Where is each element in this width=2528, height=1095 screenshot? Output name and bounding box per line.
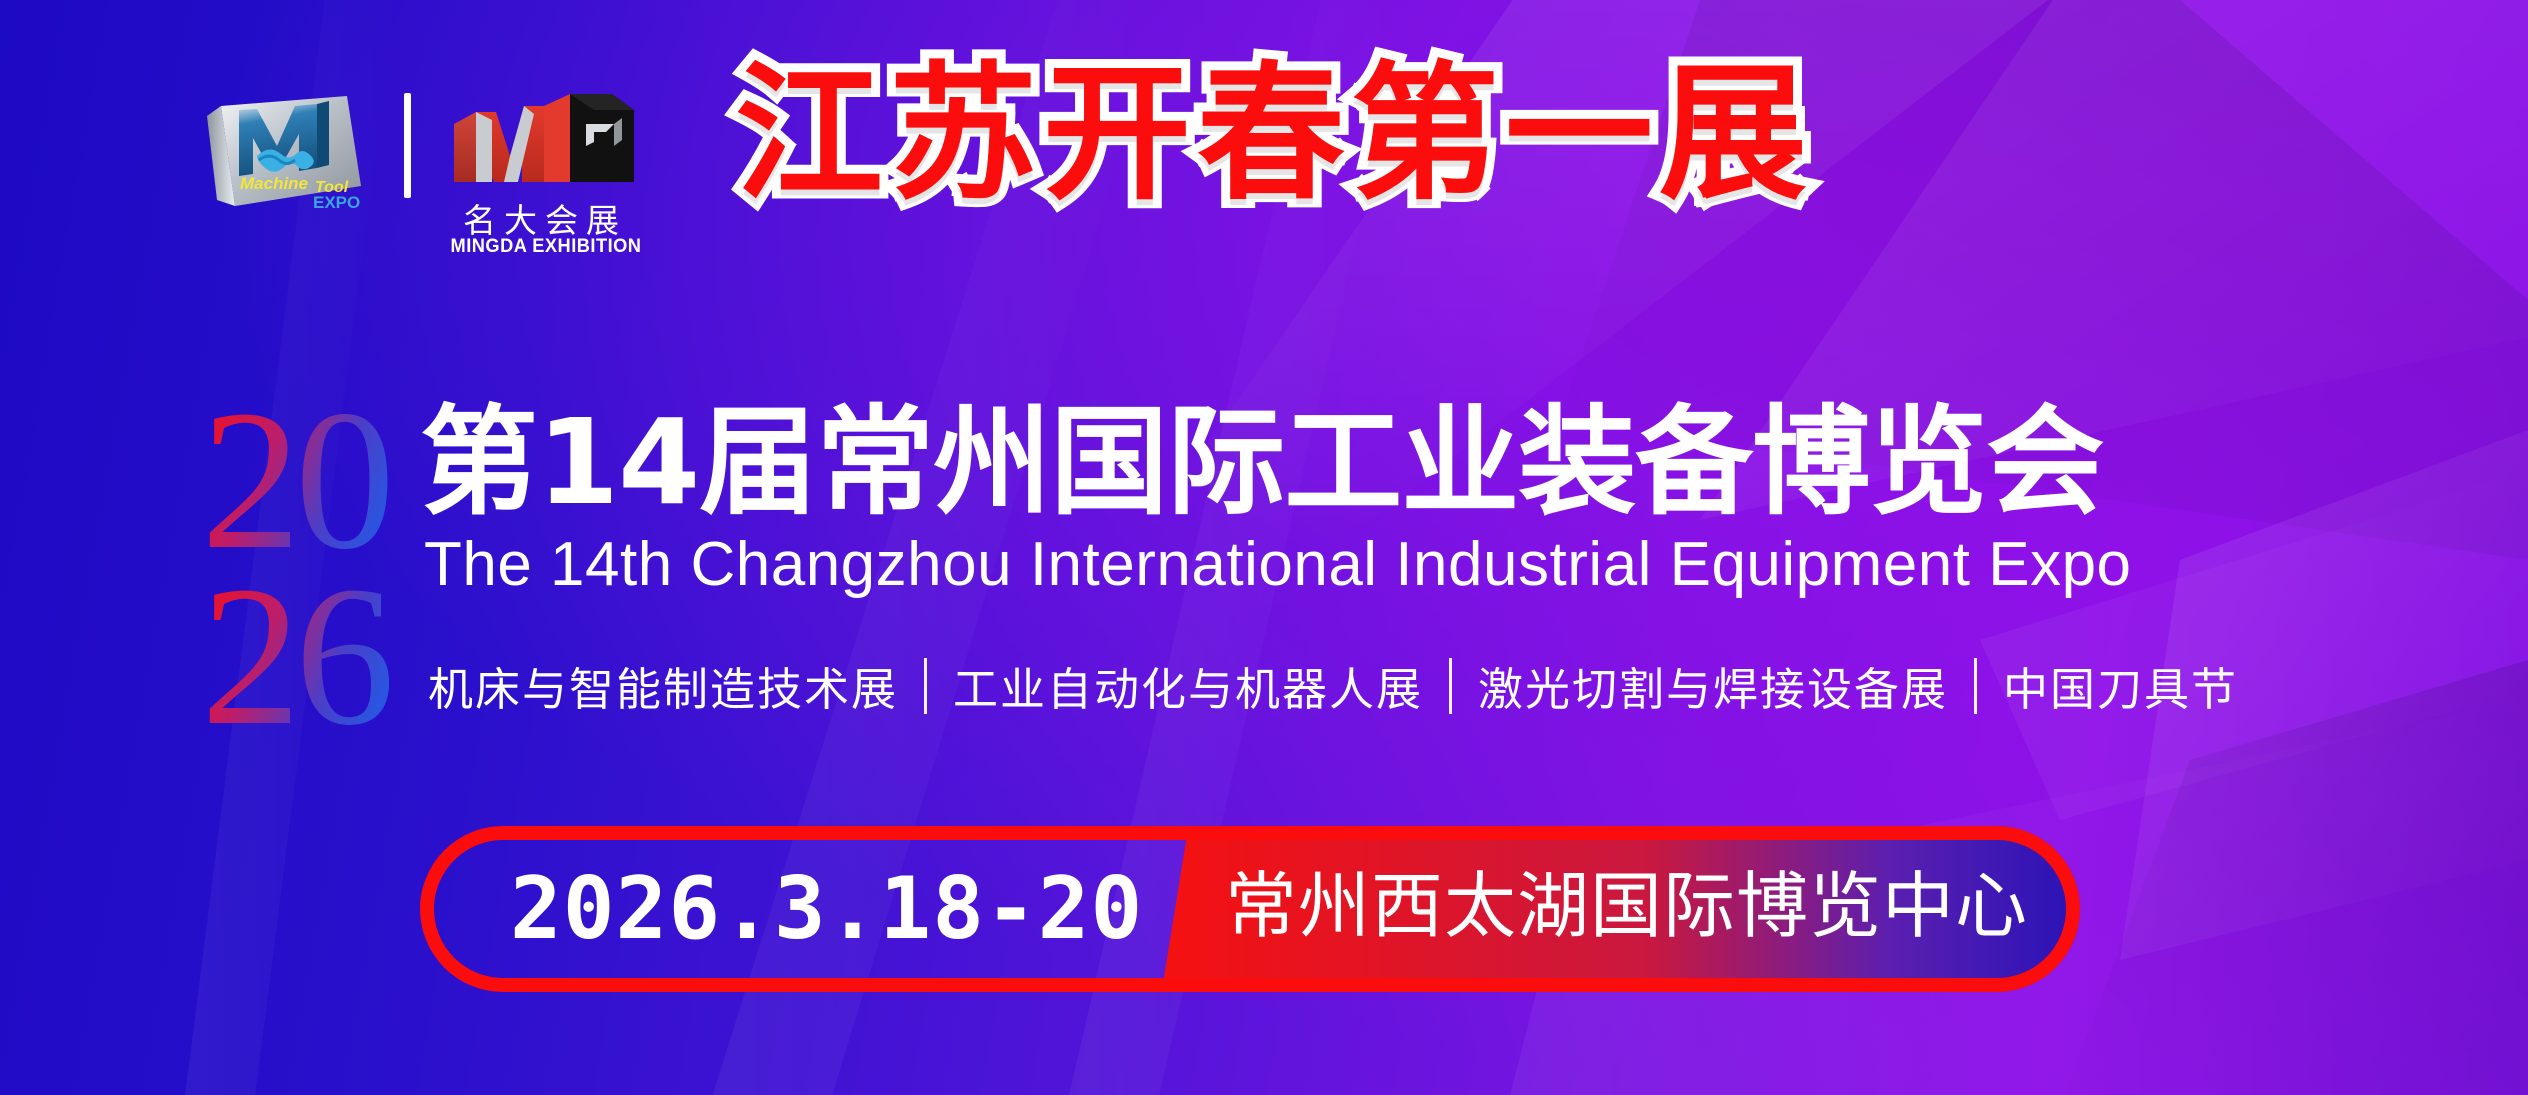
svg-text:EXPO: EXPO: [313, 193, 360, 212]
page-title-en: The 14th Changzhou International Industr…: [424, 534, 2132, 596]
category-separator: [1449, 658, 1452, 714]
page-title-cn: 第14届常州国际工业装备博览会: [420, 400, 2103, 525]
event-date-venue-bar: 2026.3.18-20 常州西太湖国际博览中心: [420, 826, 2080, 992]
category-item-2: 激光切割与焊接设备展: [1478, 653, 1948, 718]
mingda-logo-name-en: MINGDA EXHIBITION: [444, 236, 648, 258]
headline-slogan: 江苏开春第一展: [735, 60, 1813, 208]
event-date: 2026.3.18-20: [510, 866, 1143, 952]
expo-banner: Machine Tool EXPO: [0, 0, 2528, 1095]
category-strip: 机床与智能制造技术展 工业自动化与机器人展 激光切割与焊接设备展 中国刀具节: [428, 653, 2238, 718]
category-item-3: 中国刀具节: [2003, 653, 2238, 718]
category-item-1: 工业自动化与机器人展: [953, 653, 1423, 718]
mingda-logo-name-cn: 名大会展: [440, 194, 650, 242]
logo-divider: [404, 93, 411, 198]
mingda-logo-mark: [448, 84, 640, 204]
svg-text:26: 26: [205, 546, 390, 755]
category-separator: [924, 658, 927, 714]
svg-text:Machine: Machine: [240, 174, 308, 193]
machine-tool-expo-logo: Machine Tool EXPO: [195, 88, 373, 213]
category-separator: [1974, 658, 1977, 714]
year-2026-graphic: 20 26: [205, 395, 420, 755]
category-item-0: 机床与智能制造技术展: [428, 653, 898, 718]
event-venue: 常州西太湖国际博览中心: [1225, 870, 2028, 942]
